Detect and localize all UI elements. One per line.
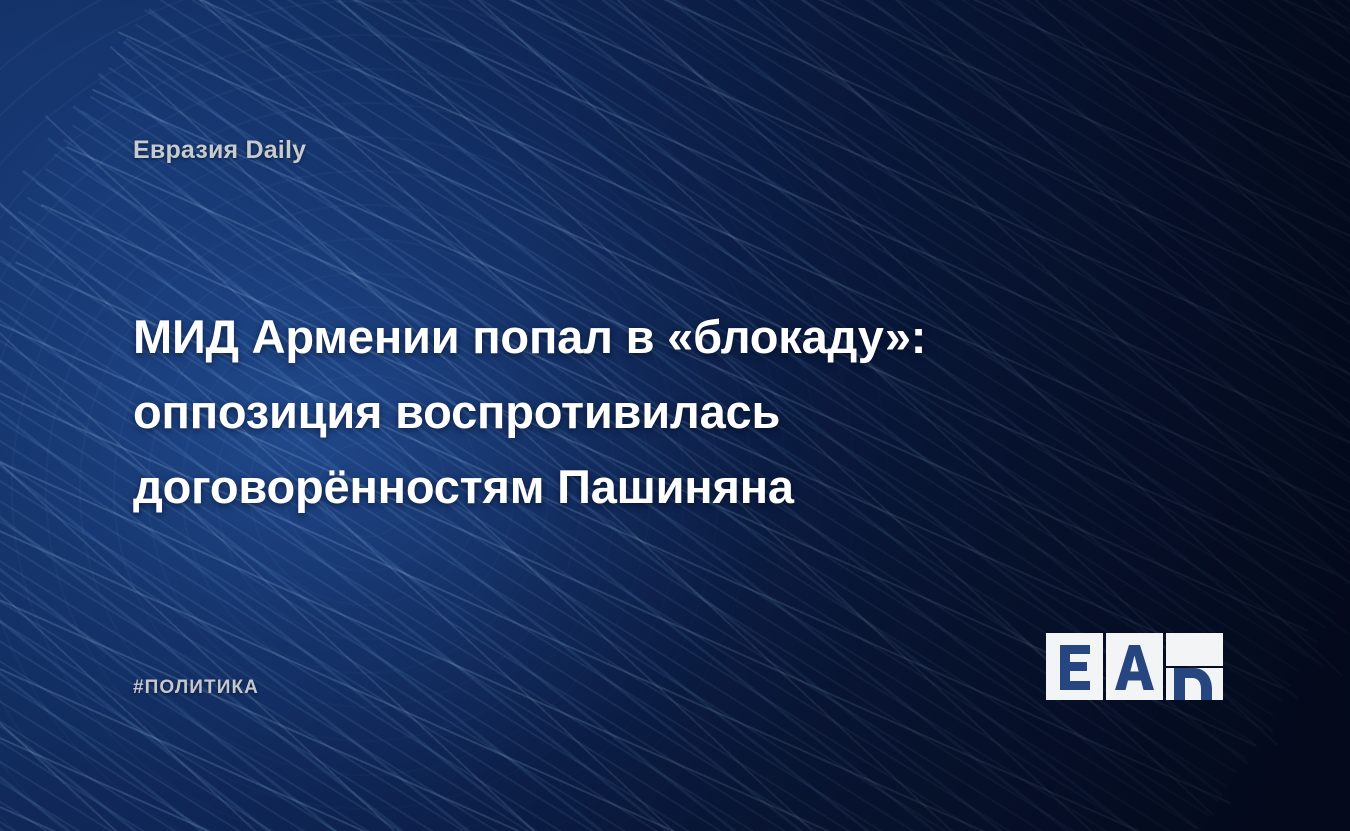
category-tag[interactable]: #ПОЛИТИКА [133,677,259,699]
logo-tile-d [1166,633,1223,700]
headline-line-2: оппозиция воспротивилась [133,374,1093,449]
headline-line-3: договорённостям Пашиняна [133,449,1093,524]
logo-tile-d-upper-half [1166,633,1223,666]
logo-tile-a [1106,633,1163,700]
headline-line-1: МИД Армении попал в «блокаду»: [133,299,1093,374]
headline: МИД Армении попал в «блокаду»: оппозиция… [133,299,1093,524]
logo-tile-d-lower-half [1166,668,1223,701]
card-content: Евразия Daily МИД Армении попал в «блока… [0,0,1350,831]
logo-tile-e [1046,633,1103,700]
eadaily-logo[interactable] [1046,633,1223,700]
news-share-card: Евразия Daily МИД Армении попал в «блока… [0,0,1350,831]
site-name: Евразия Daily [133,136,306,165]
